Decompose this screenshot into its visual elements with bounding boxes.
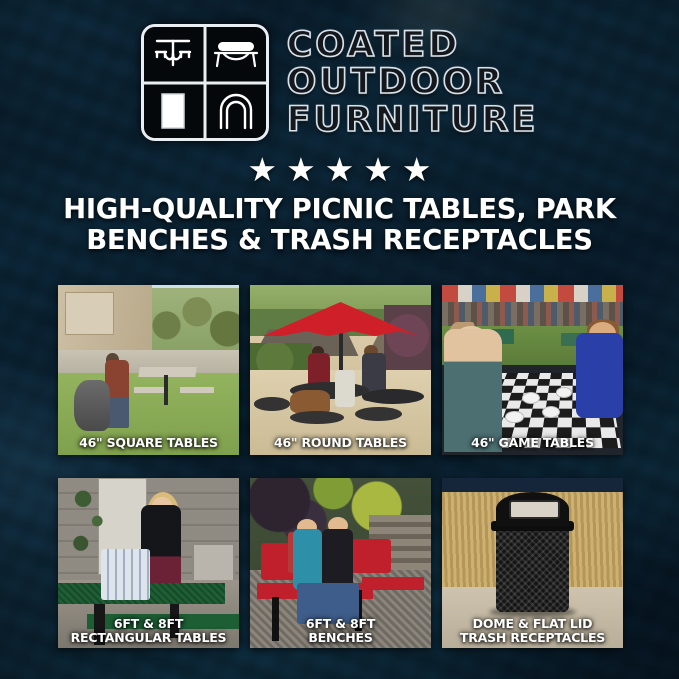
logo-cell-picnic-table — [144, 27, 204, 81]
product-caption-line-2: BENCHES — [308, 630, 372, 645]
headline-line-2: BENCHES & TRASH RECEPTACLES — [22, 225, 657, 256]
product-caption: DOME & FLAT LID TRASH RECEPTACLES — [442, 617, 623, 644]
bench-icon — [210, 34, 262, 74]
trash-receptacle-icon — [154, 89, 192, 133]
product-tile-square-tables[interactable]: 46" SQUARE TABLES — [58, 285, 239, 455]
star-icon: ★ — [248, 153, 278, 186]
product-caption: 6FT & 8FT BENCHES — [250, 617, 431, 644]
brand-logo: COATED OUTDOOR FURNITURE — [0, 0, 679, 141]
advertisement-banner: COATED OUTDOOR FURNITURE ★ ★ ★ ★ ★ HIGH-… — [0, 0, 679, 679]
bike-rack-icon — [213, 90, 259, 132]
product-caption: 46" GAME TABLES — [442, 436, 623, 450]
logo-cell-bench — [206, 27, 266, 81]
product-tile-trash-receptacles[interactable]: DOME & FLAT LID TRASH RECEPTACLES — [442, 478, 623, 648]
star-icon: ★ — [325, 153, 355, 186]
product-caption: 46" ROUND TABLES — [250, 436, 431, 450]
brand-word-coated: COATED — [287, 27, 539, 63]
logo-icon-grid — [141, 24, 269, 141]
product-tile-rectangular-tables[interactable]: 6FT & 8FT RECTANGULAR TABLES — [58, 478, 239, 648]
product-photo-game-tables — [442, 285, 623, 455]
product-caption-line-2: TRASH RECEPTACLES — [460, 630, 605, 645]
headline: HIGH-QUALITY PICNIC TABLES, PARK BENCHES… — [0, 194, 679, 256]
logo-cell-trash-receptacle — [144, 84, 204, 138]
star-icon: ★ — [286, 153, 316, 186]
star-icon: ★ — [402, 153, 432, 186]
product-caption: 6FT & 8FT RECTANGULAR TABLES — [58, 617, 239, 644]
product-tile-benches[interactable]: 6FT & 8FT BENCHES — [250, 478, 431, 648]
brand-wordmark: COATED OUTDOOR FURNITURE — [287, 27, 539, 138]
product-photo-square-tables — [58, 285, 239, 455]
product-grid: 46" SQUARE TABLES 46" ROUND TABLES — [58, 285, 623, 648]
banner-header: COATED OUTDOOR FURNITURE ★ ★ ★ ★ ★ HIGH-… — [0, 0, 679, 256]
product-caption: 46" SQUARE TABLES — [58, 436, 239, 450]
logo-cell-bike-rack — [206, 84, 266, 138]
brand-word-furniture: FURNITURE — [287, 102, 539, 138]
headline-line-1: HIGH-QUALITY PICNIC TABLES, PARK — [63, 193, 616, 225]
product-photo-round-tables — [250, 285, 431, 455]
brand-word-outdoor: OUTDOOR — [287, 64, 539, 100]
product-caption-line-2: RECTANGULAR TABLES — [71, 630, 227, 645]
star-icon: ★ — [363, 153, 393, 186]
star-rating: ★ ★ ★ ★ ★ — [0, 153, 679, 186]
product-tile-game-tables[interactable]: 46" GAME TABLES — [442, 285, 623, 455]
picnic-table-icon — [148, 34, 198, 74]
product-tile-round-tables[interactable]: 46" ROUND TABLES — [250, 285, 431, 455]
